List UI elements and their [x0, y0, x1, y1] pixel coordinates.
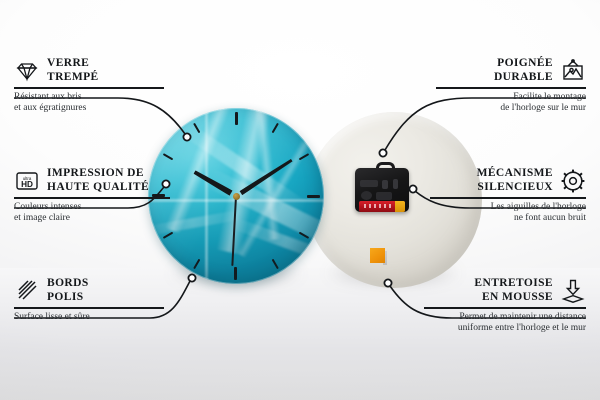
- callout-impression-haute-qualite: ultra HD IMPRESSION DE HAUTE QUALITÉ Cou…: [14, 167, 170, 225]
- callout-rule: [430, 197, 586, 199]
- callout-entretoise-en-mousse: ENTRETOISE EN MOUSSE Permet de maintenir…: [424, 277, 586, 335]
- callout-poignee-durable: POIGNÉE DURABLE Facilite le montage de l…: [436, 57, 586, 115]
- callout-title-line1: VERRE: [47, 57, 99, 71]
- callout-desc-line1: Facilite le montage: [436, 92, 586, 104]
- callout-mecanisme-silencieux: MÉCANISME SILENCIEUX L: [430, 167, 586, 225]
- callout-title-line1: POIGNÉE: [494, 57, 553, 71]
- callout-title-line1: BORDS: [47, 277, 89, 291]
- callout-title-line2: EN MOUSSE: [474, 291, 553, 305]
- aa-battery: [359, 201, 405, 212]
- polished-edges-icon: [14, 278, 40, 304]
- callout-title-line2: HAUTE QUALITÉ: [47, 181, 149, 195]
- callout-desc-line1: Permet de maintenir une distance: [424, 312, 586, 324]
- callout-rule: [14, 197, 170, 199]
- callout-desc-line2: uniforme entre l'horloge et le mur: [424, 323, 586, 335]
- turquoise-feather-clock-face: [148, 108, 324, 284]
- callout-title-line1: MÉCANISME: [477, 167, 553, 181]
- callout-title-line1: IMPRESSION DE: [47, 167, 149, 181]
- callout-desc-line2: et image claire: [14, 213, 170, 225]
- callout-rule: [14, 307, 164, 309]
- diamond-icon: [14, 58, 40, 84]
- callout-title-line2: TREMPÉ: [47, 71, 99, 85]
- callout-title-line2: SILENCIEUX: [477, 181, 553, 195]
- callout-desc-line2: et aux égratignures: [14, 103, 164, 115]
- callout-rule: [424, 307, 586, 309]
- callout-desc-line2: ne font aucun bruit: [430, 213, 586, 225]
- hanging-frame-icon: [560, 58, 586, 84]
- foam-spacer: [370, 248, 387, 265]
- callout-title-line1: ENTRETOISE: [474, 277, 553, 291]
- callout-title-line2: DURABLE: [494, 71, 553, 85]
- callout-rule: [14, 87, 164, 89]
- callout-desc-line1: Surface lisse et sûre: [14, 312, 164, 324]
- callout-desc-line1: Résistant aux bris: [14, 92, 164, 104]
- product-infographic: VERRE TREMPÉ Résistant aux bris et aux é…: [0, 0, 600, 400]
- callout-bords-polis: BORDS POLIS Surface lisse et sûre: [14, 277, 164, 323]
- ultra-hd-icon: ultra HD: [14, 168, 40, 194]
- glass-rim: [148, 108, 324, 284]
- svg-text:HD: HD: [21, 180, 33, 189]
- movement-housing: [355, 168, 409, 212]
- callout-title-line2: POLIS: [47, 291, 89, 305]
- callout-desc-line2: de l'horloge sur le mur: [436, 103, 586, 115]
- gear-icon: [560, 168, 586, 194]
- foam-spacer-icon: [560, 278, 586, 304]
- callout-rule: [436, 87, 586, 89]
- callout-verre-trempe: VERRE TREMPÉ Résistant aux bris et aux é…: [14, 57, 164, 115]
- quartz-movement: [355, 162, 409, 212]
- callout-desc-line1: Couleurs intenses: [14, 202, 170, 214]
- callout-desc-line1: Les aiguilles de l'horloge: [430, 202, 586, 214]
